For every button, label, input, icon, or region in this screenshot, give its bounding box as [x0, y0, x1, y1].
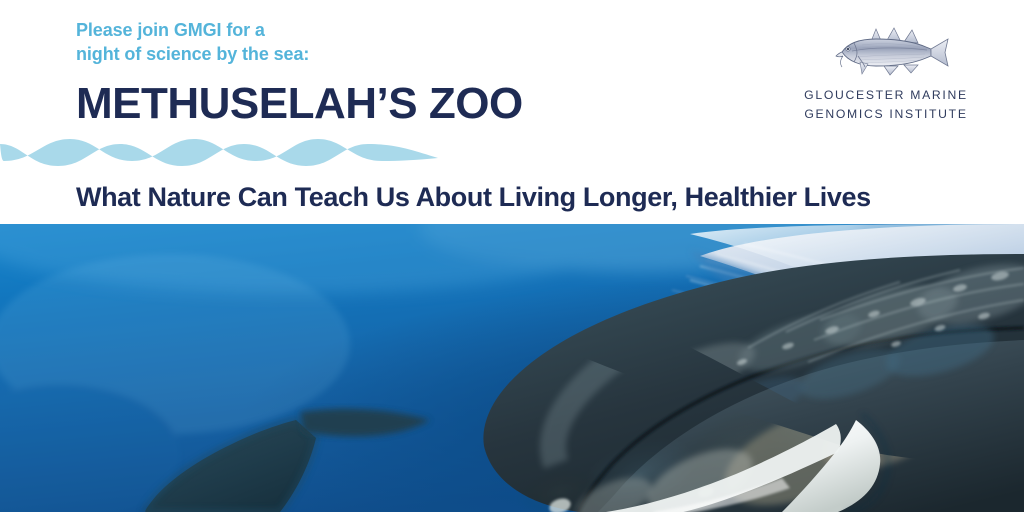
- wavy-line-divider: [0, 136, 460, 180]
- gmgi-logo: GLOUCESTER MARINE GENOMICS INSTITUTE: [790, 24, 982, 126]
- whale-underwater-scene: [0, 224, 1024, 512]
- banner-subtitle: What Nature Can Teach Us About Living Lo…: [76, 182, 871, 213]
- banner-header: Please join GMGI for a night of science …: [0, 0, 1024, 224]
- invitation-kicker-text: Please join GMGI for a night of science …: [76, 18, 309, 66]
- page-title: METHUSELAH’S ZOO: [76, 82, 523, 126]
- cod-fish-icon: [832, 24, 952, 78]
- logo-wordmark: GLOUCESTER MARINE GENOMICS INSTITUTE: [790, 86, 982, 123]
- bowhead-whale-photo: [0, 224, 1024, 512]
- event-banner: Please join GMGI for a night of science …: [0, 0, 1024, 512]
